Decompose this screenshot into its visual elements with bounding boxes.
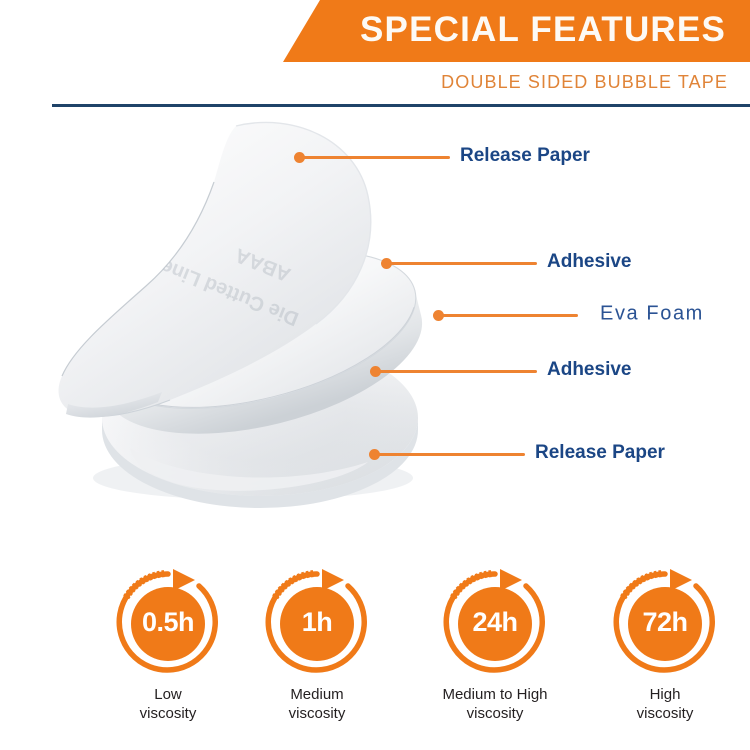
timer-ring-icon: 0.5h xyxy=(114,568,222,676)
callout-dot-icon xyxy=(294,152,305,163)
badge-caption-line1: Low xyxy=(93,685,243,704)
viscosity-badge-72h[interactable]: 72hHighviscosity xyxy=(590,568,740,723)
badge-caption-line2: viscosity xyxy=(420,704,570,723)
callout-dot-icon xyxy=(433,310,444,321)
timer-ring-icon: 24h xyxy=(441,568,549,676)
badge-caption-line2: viscosity xyxy=(590,704,740,723)
badge-caption-line2: viscosity xyxy=(93,704,243,723)
badge-caption-line1: Medium to High xyxy=(420,685,570,704)
infographic-page: SPECIAL FEATURES DOUBLE SIDED BUBBLE TAP… xyxy=(0,0,750,750)
callout-dot-icon xyxy=(369,449,380,460)
callout-leader-line xyxy=(373,453,525,456)
badge-caption: Lowviscosity xyxy=(93,685,243,723)
product-photo: Die Cutted Liner for ABAA xyxy=(38,118,458,508)
header-divider xyxy=(52,104,750,107)
badge-caption-line1: High xyxy=(590,685,740,704)
callout-leader-line xyxy=(385,262,537,265)
viscosity-badge-24h[interactable]: 24hMedium to Highviscosity xyxy=(420,568,570,723)
callout-label: Eva Foam xyxy=(600,303,704,326)
badge-caption: Medium to Highviscosity xyxy=(420,685,570,723)
callout-leader-line xyxy=(298,156,450,159)
callout-leader-line xyxy=(437,314,578,317)
callout-leader-line xyxy=(374,370,537,373)
badge-caption-line2: viscosity xyxy=(242,704,392,723)
badge-caption: Highviscosity xyxy=(590,685,740,723)
callout-label: Adhesive xyxy=(547,359,631,381)
viscosity-badge-0-5h[interactable]: 0.5hLowviscosity xyxy=(93,568,243,723)
badge-caption: Mediumviscosity xyxy=(242,685,392,723)
callout-dot-icon xyxy=(370,366,381,377)
badge-caption-line1: Medium xyxy=(242,685,392,704)
callout-dot-icon xyxy=(381,258,392,269)
callout-label: Release Paper xyxy=(535,442,665,464)
callout-label: Release Paper xyxy=(460,145,590,167)
callout-label: Adhesive xyxy=(547,251,631,273)
page-title: SPECIAL FEATURES xyxy=(360,0,726,62)
viscosity-badge-1h[interactable]: 1hMediumviscosity xyxy=(242,568,392,723)
timer-ring-icon: 72h xyxy=(611,568,719,676)
viscosity-badge-group: 0.5hLowviscosity1hMediumviscosity24hMedi… xyxy=(0,568,750,750)
page-subtitle: DOUBLE SIDED BUBBLE TAPE xyxy=(441,72,728,93)
timer-ring-icon: 1h xyxy=(263,568,371,676)
